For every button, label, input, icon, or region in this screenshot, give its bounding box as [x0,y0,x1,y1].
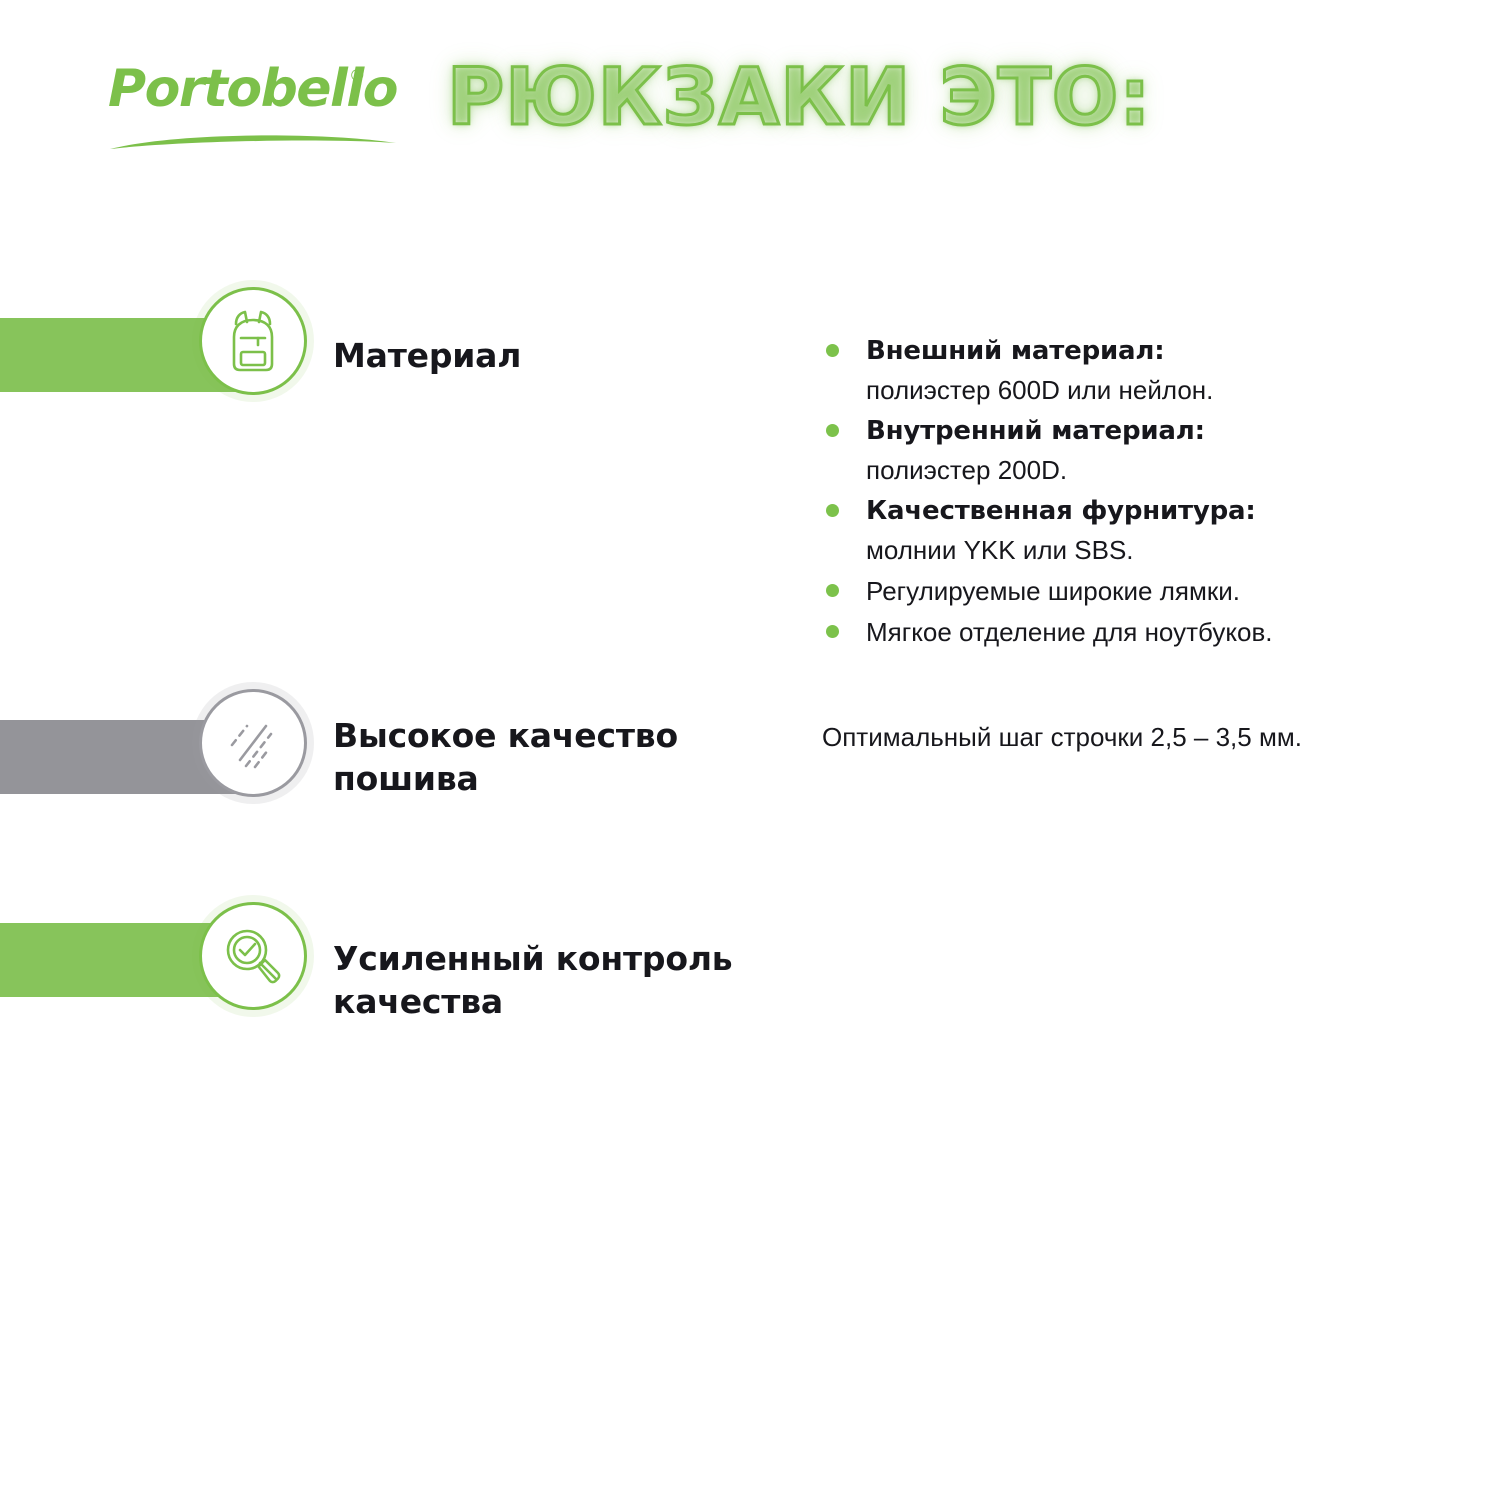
feature-label-stitch-quality: Высокое качество пошива [333,714,678,800]
feature-icon-magnifier-badge [199,902,307,1010]
bullet-dot-icon [826,504,839,517]
bullet-heading: Внешний материал: [866,332,1442,371]
stitching-icon [222,712,284,774]
feature-icon-backpack-badge [199,287,307,395]
bullet-dot-icon [826,625,839,638]
backpack-icon [223,308,283,374]
stitch-pitch-note: Оптимальный шаг строчки 2,5 – 3,5 мм. [822,718,1462,757]
bullet-subtext: полиэстер 600D или нейлон. [866,371,1442,410]
list-item: Внутренний материал: полиэстер 200D. [822,412,1442,490]
bullet-heading: Внутренний материал: [866,412,1442,451]
list-item: Мягкое отделение для ноутбуков. [822,613,1442,652]
list-item: Качественная фурнитура: молнии YKK или S… [822,492,1442,570]
list-item: Регулируемые широкие лямки. [822,572,1442,611]
bullet-text: Регулируемые широкие лямки. [866,572,1442,611]
bullet-dot-icon [826,584,839,597]
page-title: РЮКЗАКИ ЭТО: [447,52,1151,144]
bullet-text: Мягкое отделение для ноутбуков. [866,613,1442,652]
feature-label-material: Материал [333,334,521,377]
bullet-subtext: молнии YKK или SBS. [866,531,1442,570]
material-bullet-list: Внешний материал: полиэстер 600D или ней… [822,332,1442,654]
feature-label-quality-control: Усиленный контроль качества [333,937,732,1023]
registered-trademark-icon: ® [351,66,364,86]
bullet-dot-icon [826,344,839,357]
bullet-dot-icon [826,424,839,437]
bullet-subtext: полиэстер 200D. [866,451,1442,490]
list-item: Внешний материал: полиэстер 600D или ней… [822,332,1442,410]
page-header: Portobello ® РЮКЗАКИ ЭТО: [0,0,1500,190]
portobello-logo: Portobello ® [108,58,398,148]
bullet-heading: Качественная фурнитура: [866,492,1442,531]
magnifier-check-icon [221,924,285,988]
feature-icon-stitching-badge [199,689,307,797]
logo-swoosh-icon [108,130,398,152]
